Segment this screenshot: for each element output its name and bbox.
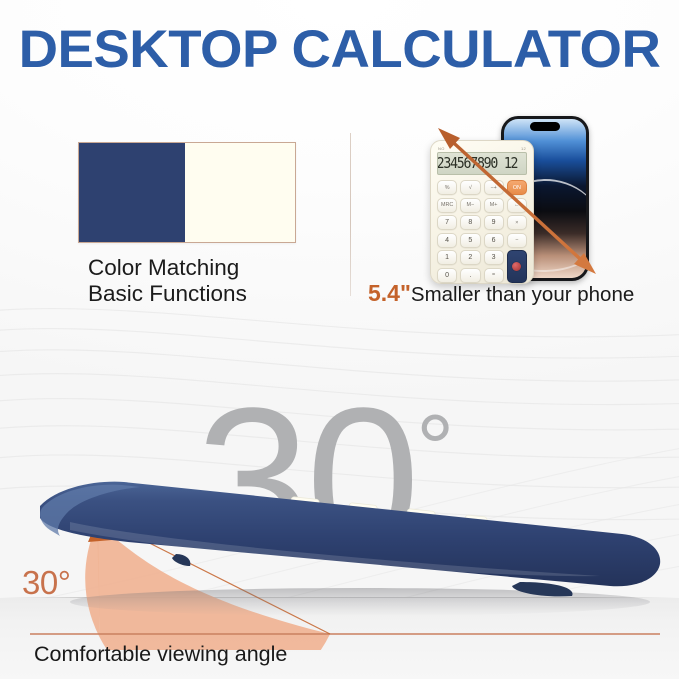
calculator-enter-dot-icon xyxy=(512,262,521,271)
calculator-key[interactable]: 3 xyxy=(484,250,504,265)
calculator-key[interactable]: 1 xyxy=(437,250,457,265)
calculator-key[interactable]: 7 xyxy=(437,215,457,230)
calculator-key[interactable]: 2 xyxy=(460,250,480,265)
calculator-key[interactable]: 0 xyxy=(437,268,457,283)
calculator-key[interactable]: 9 xyxy=(484,215,504,230)
swatch-cream-ivory xyxy=(185,143,295,242)
calculator-key[interactable]: 4 xyxy=(437,233,457,248)
calculator-profile-illustration xyxy=(0,430,679,640)
viewing-angle-caption: Comfortable viewing angle xyxy=(34,641,287,667)
angle-value-label: 30° xyxy=(22,566,70,599)
calculator-brand-label: NO xyxy=(438,146,445,151)
calculator-key[interactable]: 6 xyxy=(484,233,504,248)
calculator-key[interactable]: √ xyxy=(460,180,480,195)
calculator-key[interactable]: M+ xyxy=(484,198,504,213)
calculator-key[interactable]: − xyxy=(507,233,527,248)
calculator-key-enter[interactable] xyxy=(507,250,527,283)
product-infographic: DESKTOP CALCULATOR Color Matching Basic … xyxy=(0,0,679,679)
calculator-key[interactable]: . xyxy=(460,268,480,283)
color-swatch xyxy=(78,142,296,243)
calculator-key[interactable]: 5 xyxy=(460,233,480,248)
caption-line-basic-functions: Basic Functions xyxy=(88,281,328,307)
calculator-key[interactable]: ← xyxy=(507,198,527,213)
calculator-key[interactable]: 8 xyxy=(460,215,480,230)
color-matching-caption: Color Matching Basic Functions xyxy=(88,255,328,307)
calculator-key[interactable]: = xyxy=(484,268,504,283)
calculator-key[interactable]: M− xyxy=(460,198,480,213)
calculator-key-power[interactable]: ON xyxy=(507,180,527,195)
calculator-key[interactable]: MRC xyxy=(437,198,457,213)
product-foot-left xyxy=(172,554,190,566)
page-title: DESKTOP CALCULATOR xyxy=(0,20,679,80)
calculator-key[interactable]: −+ xyxy=(484,180,504,195)
calculator-key[interactable]: × xyxy=(507,215,527,230)
vertical-divider xyxy=(350,133,351,296)
swatch-navy-blue xyxy=(79,143,185,242)
calculator-digit-label: 12 xyxy=(521,146,526,151)
phone-dynamic-island xyxy=(530,122,560,131)
calculator-key[interactable]: % xyxy=(437,180,457,195)
calculator-display-value: 1234567890 12 xyxy=(437,156,517,171)
size-comparison-group: NO 12 1234567890 12 % √ −+ ON MRC M− M+ … xyxy=(430,116,605,288)
size-measurement-value: 5.4" xyxy=(368,280,411,306)
calculator-lcd-display: 1234567890 12 xyxy=(437,152,527,175)
size-caption-text: Smaller than your phone xyxy=(411,283,634,306)
calculator-keypad: % √ −+ ON MRC M− M+ ← 7 8 9 × 4 5 6 − 1 … xyxy=(437,180,527,283)
caption-line-color-matching: Color Matching xyxy=(88,255,328,281)
size-comparison-caption: 5.4"Smaller than your phone xyxy=(368,280,634,308)
calculator-front-mockup: NO 12 1234567890 12 % √ −+ ON MRC M− M+ … xyxy=(430,140,534,284)
